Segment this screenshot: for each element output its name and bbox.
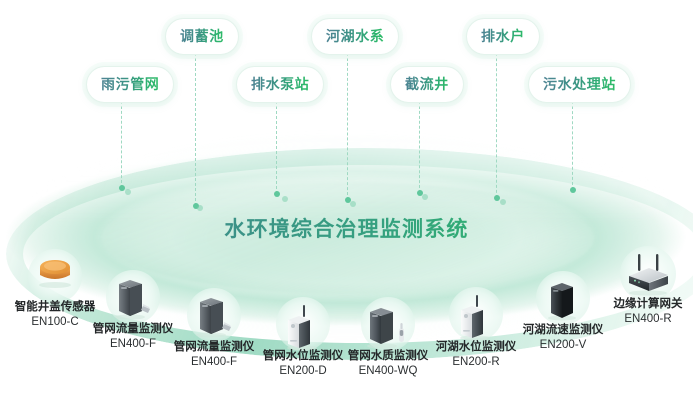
category-pill-label: 调蓄池 (180, 28, 224, 44)
device-model: EN400-R (614, 312, 683, 327)
category-pill-4[interactable]: 截流井 (390, 66, 464, 103)
connector-line-2 (276, 101, 277, 194)
ring-particle-0 (197, 205, 203, 211)
water-quality-monitor-icon (364, 303, 412, 349)
ring-particle-4 (500, 199, 506, 205)
device-name: 边缘计算网关 (614, 297, 683, 312)
device-artwork (364, 303, 412, 354)
category-pill-label: 雨污管网 (101, 76, 159, 92)
category-pill-label: 截流井 (405, 76, 449, 92)
flow-monitor-icon (112, 276, 154, 320)
edge-gateway-icon (620, 252, 676, 296)
category-pill-label: 排水户 (481, 28, 525, 44)
connector-line-6 (572, 101, 573, 190)
ring-particle-2 (350, 201, 356, 207)
device-label: 管网水质监测仪EN400-WQ (348, 349, 429, 379)
connector-line-3 (347, 53, 348, 200)
connector-endpoint-0 (119, 185, 125, 191)
manhole-sensor-icon (35, 255, 75, 289)
ring-particle-3 (422, 194, 428, 200)
device-name: 河湖流速监测仪 (523, 323, 604, 338)
diagram-canvas: 水环境综合治理监测系统 雨污管网调蓄池排水泵站河湖水系截流井排水户污水处理站 智… (0, 0, 693, 411)
category-pill-0[interactable]: 雨污管网 (86, 66, 174, 103)
category-pill-label: 排水泵站 (251, 76, 309, 92)
connector-endpoint-5 (494, 195, 500, 201)
device-artwork (620, 252, 676, 301)
device-model: EN400-F (174, 355, 255, 370)
category-pill-3[interactable]: 河湖水系 (311, 18, 399, 55)
water-level-monitor-icon (282, 303, 324, 351)
device-artwork (112, 276, 154, 325)
category-pill-2[interactable]: 排水泵站 (236, 66, 324, 103)
device-model: EN200-D (263, 364, 344, 379)
device-model: EN100-C (15, 315, 96, 330)
ring-particle-5 (125, 189, 131, 195)
device-name: 河湖水位监测仪 (436, 340, 517, 355)
device-artwork (193, 294, 235, 343)
device-label: 河湖流速监测仪EN200-V (523, 323, 604, 353)
category-pill-label: 河湖水系 (326, 28, 384, 44)
device-artwork (35, 255, 75, 294)
device-model: EN200-R (436, 355, 517, 370)
page-title: 水环境综合治理监测系统 (0, 213, 693, 243)
connector-line-0 (121, 101, 122, 188)
category-pill-6[interactable]: 污水处理站 (528, 66, 631, 103)
flow-velocity-monitor-icon (543, 277, 583, 321)
ring-particle-1 (282, 196, 288, 202)
water-level-monitor-icon (455, 293, 497, 341)
device-model: EN400-WQ (348, 364, 429, 379)
category-pill-1[interactable]: 调蓄池 (165, 18, 239, 55)
device-name: 管网水质监测仪 (348, 349, 429, 364)
device-artwork (543, 277, 583, 326)
device-label: 河湖水位监测仪EN200-R (436, 340, 517, 370)
device-name: 智能井盖传感器 (15, 300, 96, 315)
category-pill-label: 污水处理站 (543, 76, 616, 92)
connector-line-4 (419, 101, 420, 193)
connector-line-1 (195, 53, 196, 206)
device-label: 管网水位监测仪EN200-D (263, 349, 344, 379)
device-label: 智能井盖传感器EN100-C (15, 300, 96, 330)
flow-monitor-icon (193, 294, 235, 338)
device-model: EN200-V (523, 338, 604, 353)
connector-endpoint-2 (274, 191, 280, 197)
device-name: 管网流量监测仪 (93, 322, 174, 337)
device-label: 管网流量监测仪EN400-F (174, 340, 255, 370)
device-name: 管网流量监测仪 (174, 340, 255, 355)
device-name: 管网水位监测仪 (263, 349, 344, 364)
device-label: 边缘计算网关EN400-R (614, 297, 683, 327)
category-pill-5[interactable]: 排水户 (466, 18, 540, 55)
device-artwork (455, 293, 497, 346)
connector-endpoint-6 (570, 187, 576, 193)
connector-line-5 (496, 53, 497, 198)
device-model: EN400-F (93, 337, 174, 352)
device-label: 管网流量监测仪EN400-F (93, 322, 174, 352)
